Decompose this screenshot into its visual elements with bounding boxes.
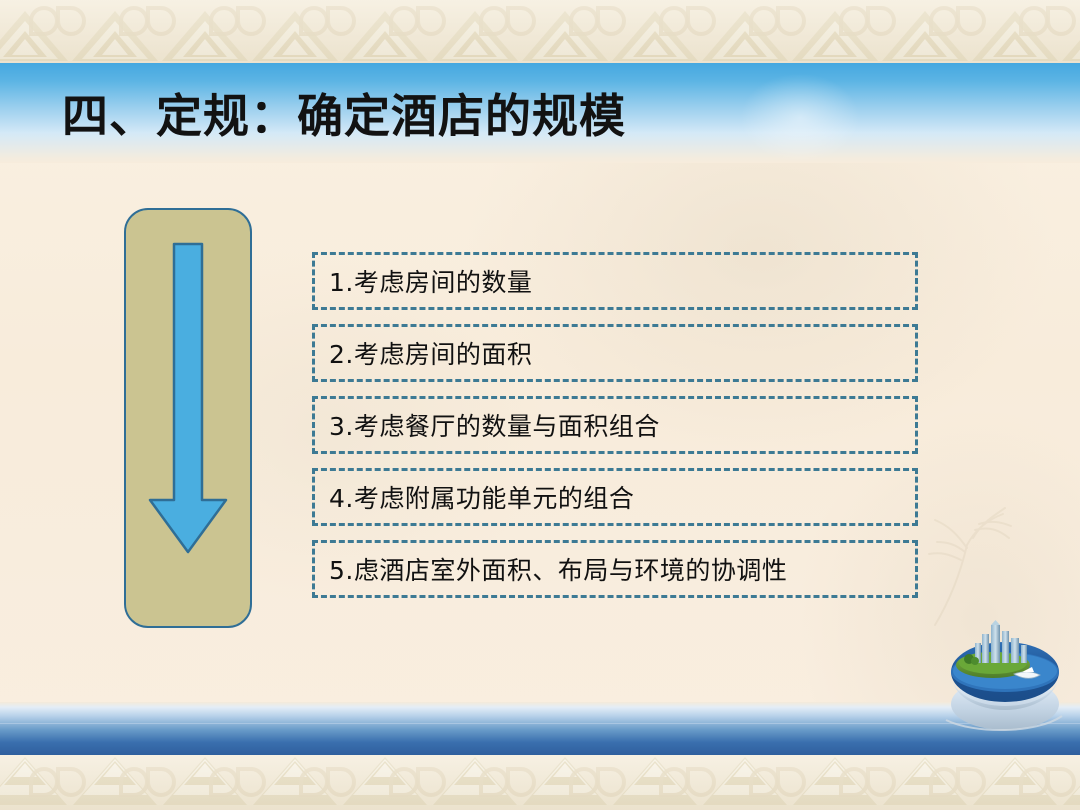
tribal-spiral-motif [749, 767, 779, 797]
list-item[interactable]: 4.考虑附属功能单元的组合 [312, 468, 918, 526]
tribal-spiral-motif [839, 6, 869, 36]
list-item-label: 4.考虑附属功能单元的组合 [329, 479, 634, 515]
top-border-pattern [0, 0, 1080, 63]
tribal-spiral-motif [659, 6, 689, 36]
tribal-spiral-motif [479, 6, 509, 36]
list-item[interactable]: 5.虑酒店室外面积、布局与环境的协调性 [312, 540, 918, 598]
tribal-spiral-motif [56, 6, 86, 36]
globe-city-island-icon [944, 612, 1066, 732]
tribal-spiral-motif [299, 767, 329, 797]
list-item[interactable]: 3.考虑餐厅的数量与面积组合 [312, 396, 918, 454]
bottom-border-pattern [0, 755, 1080, 810]
tribal-spiral-motif [776, 767, 806, 797]
list-item-label: 1.考虑房间的数量 [329, 263, 532, 299]
tribal-spiral-motif [1046, 767, 1076, 797]
tribal-spiral-motif [119, 767, 149, 797]
steps-list: 1.考虑房间的数量 2.考虑房间的面积 3.考虑餐厅的数量与面积组合 4.考虑附… [312, 252, 918, 598]
list-item-label: 5.虑酒店室外面积、布局与环境的协调性 [329, 551, 787, 587]
tribal-spiral-motif [326, 767, 356, 797]
tribal-spiral-motif [956, 767, 986, 797]
tribal-spiral-motif [209, 6, 239, 36]
tribal-spiral-motif [29, 6, 59, 36]
tribal-spiral-motif [236, 767, 266, 797]
tribal-spiral-motif [866, 6, 896, 36]
list-item[interactable]: 1.考虑房间的数量 [312, 252, 918, 310]
tribal-spiral-motif [839, 767, 869, 797]
tribal-spiral-motif [416, 6, 446, 36]
tribal-spiral-motif [686, 6, 716, 36]
tribal-spiral-motif [866, 767, 896, 797]
list-item-label: 2.考虑房间的面积 [329, 335, 532, 371]
tribal-spiral-motif [929, 6, 959, 36]
tribal-spiral-motif [389, 6, 419, 36]
tree-branch-watermark-icon [905, 490, 1055, 630]
tribal-spiral-motif [1019, 6, 1049, 36]
list-item-label: 3.考虑餐厅的数量与面积组合 [329, 407, 660, 443]
tribal-spiral-motif [1019, 767, 1049, 797]
tribal-spiral-motif [146, 767, 176, 797]
tribal-spiral-motif [209, 767, 239, 797]
tribal-spiral-motif [686, 767, 716, 797]
tribal-spiral-motif [659, 767, 689, 797]
tribal-spiral-motif [146, 6, 176, 36]
tribal-spiral-motif [416, 767, 446, 797]
tribal-spiral-motif [569, 767, 599, 797]
down-arrow-callout [124, 208, 252, 628]
tribal-spiral-motif [596, 6, 626, 36]
list-item[interactable]: 2.考虑房间的面积 [312, 324, 918, 382]
tribal-spiral-motif [326, 6, 356, 36]
down-arrow-icon [148, 242, 228, 592]
tribal-spiral-motif [776, 6, 806, 36]
tribal-spiral-motif [956, 6, 986, 36]
tribal-spiral-motif [929, 767, 959, 797]
tribal-spiral-motif [29, 767, 59, 797]
tribal-spiral-motif [119, 6, 149, 36]
tribal-spiral-motif [236, 6, 266, 36]
tribal-spiral-motif [749, 6, 779, 36]
tribal-spiral-motif [506, 6, 536, 36]
tribal-spiral-motif [596, 767, 626, 797]
slide-canvas: 四、定规：确定酒店的规模 1.考虑房间的数量 2.考虑房间的面积 3.考虑餐厅的… [0, 0, 1080, 810]
tribal-spiral-motif [389, 767, 419, 797]
tribal-spiral-motif [299, 6, 329, 36]
page-title: 四、定规：确定酒店的规模 [62, 92, 626, 140]
tribal-spiral-motif [479, 767, 509, 797]
tribal-spiral-motif [56, 767, 86, 797]
tribal-spiral-motif [569, 6, 599, 36]
ocean-band [0, 702, 1080, 755]
tribal-spiral-motif [506, 767, 536, 797]
tribal-spiral-motif [1046, 6, 1076, 36]
